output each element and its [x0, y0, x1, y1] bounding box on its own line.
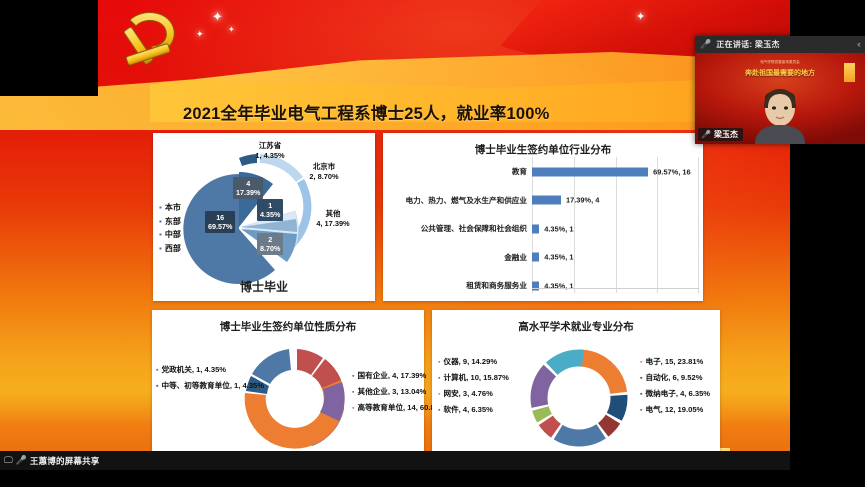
- participant-avatar: [745, 86, 815, 144]
- donut-legend-left: ▪党政机关, 1, 4.35% ▪中等、初等教育单位, 1, 4.35%: [156, 362, 264, 394]
- legend-item: ▪微纳电子, 4, 6.35%: [640, 386, 710, 402]
- sparkle-icon: ✦: [212, 10, 223, 23]
- chart-card-doctor-region: 16 69.57% 4 17.39% 1 4.35% 2 8.70% 江苏省: [153, 133, 375, 301]
- pie-legend: 本市 东部 中部 西部: [159, 201, 181, 255]
- donut-employer-type: [240, 340, 350, 458]
- chart-card-industry: 博士毕业生签约单位行业分布 教育 69.57%, 16 电力、热力、燃气及水生产…: [383, 133, 703, 301]
- bar-category-label: 电力、热力、燃气及水生产和供应业: [383, 195, 532, 206]
- microphone-icon: 🎤: [16, 455, 27, 466]
- tile-slide-title: 奔赴祖国最需要的地方: [745, 68, 815, 78]
- bar-fill: [532, 167, 648, 176]
- pie-data-label: 4 17.39%: [233, 177, 263, 199]
- legend-item: ▪计算机, 10, 15.87%: [438, 370, 509, 386]
- legend-item: 本市: [159, 201, 181, 215]
- screen-share-icon: 🖵: [4, 455, 13, 466]
- legend-swatch-icon: ▪: [352, 405, 354, 412]
- chart-title-academic-major: 高水平学术就业专业分布: [432, 310, 720, 334]
- donut-legend-left: ▪仪器, 9, 14.29% ▪计算机, 10, 15.87% ▪网安, 3, …: [438, 354, 509, 418]
- chevron-collapse-icon[interactable]: ‹‹: [857, 39, 859, 49]
- legend-item: ▪电气, 12, 19.05%: [640, 402, 710, 418]
- participant-name: 梁玉杰: [714, 129, 738, 140]
- legend-swatch-icon: ▪: [640, 359, 642, 366]
- legend-swatch-icon: ▪: [438, 359, 440, 366]
- presentation-slide: ✦ ✦ ✦ ✦ 2021全年毕业电气工程系博士25人，就业率100%: [0, 0, 790, 470]
- bar-category-label: 公共管理、社会保障和社会组织: [383, 223, 532, 234]
- legend-item: 西部: [159, 242, 181, 256]
- active-speaker-label: 正在讲话: 梁玉杰: [716, 39, 780, 50]
- participant-video-tile[interactable]: 🎤 正在讲话: 梁玉杰 ‹‹ 电气学院党委宣传委员会 奔赴祖国最需要的地方 🎤 …: [695, 36, 865, 144]
- bar-row: 金融业 4.35%, 1: [383, 245, 699, 270]
- sparkle-icon: ✦: [228, 26, 235, 34]
- bar-row: 电力、热力、燃气及水生产和供应业 17.39%, 4: [383, 188, 699, 213]
- participant-name-badge: 🎤 梁玉杰: [698, 128, 743, 141]
- legend-item: ▪中等、初等教育单位, 1, 4.35%: [156, 378, 264, 394]
- donut-academic-major: [520, 338, 638, 458]
- legend-item: ▪电子, 15, 23.81%: [640, 354, 710, 370]
- legend-item: 中部: [159, 228, 181, 242]
- legend-item: ▪网安, 3, 4.76%: [438, 386, 509, 402]
- chart-card-academic-major: 高水平学术就业专业分布 ▪仪器, 9, 14.29% ▪计算机, 10, 15.…: [432, 310, 720, 470]
- bar-row: 教育 69.57%, 16: [383, 159, 699, 184]
- pie-secondary-label-beijing: 北京市 2, 8.70%: [293, 162, 355, 182]
- chart-axis: [532, 288, 699, 289]
- legend-swatch-icon: ▪: [352, 389, 354, 396]
- legend-swatch-icon: ▪: [438, 391, 440, 398]
- bar-category-label: 租赁和商务服务业: [383, 280, 532, 291]
- chart-title-industry: 博士毕业生签约单位行业分布: [383, 133, 703, 157]
- microphone-icon: 🎤: [700, 39, 711, 50]
- chart-title-doctor-region: 博士毕业: [153, 278, 375, 295]
- screen-share-view: ✦ ✦ ✦ ✦ 2021全年毕业电气工程系博士25人，就业率100%: [0, 0, 865, 487]
- bar-value-label: 17.39%, 4: [566, 196, 599, 205]
- microphone-muted-icon: 🎤: [701, 130, 711, 139]
- legend-item: ▪软件, 4, 6.35%: [438, 402, 509, 418]
- sparkle-icon: ✦: [196, 30, 204, 39]
- bar-category-label: 教育: [383, 166, 532, 177]
- tile-slide-accent: [844, 63, 855, 82]
- legend-item: 东部: [159, 215, 181, 229]
- pie-data-label: 2 8.70%: [257, 233, 283, 255]
- tile-slide-subtitle: 电气学院党委宣传委员会: [760, 60, 800, 65]
- legend-swatch-icon: ▪: [438, 407, 440, 414]
- slide-left-gutter: [0, 0, 98, 96]
- bar-fill: [532, 224, 539, 233]
- tile-video[interactable]: 电气学院党委宣传委员会 奔赴祖国最需要的地方 🎤 梁玉杰: [695, 53, 865, 144]
- bar-series: 教育 69.57%, 16 电力、热力、燃气及水生产和供应业 17.39%, 4…: [383, 159, 699, 295]
- legend-swatch-icon: ▪: [156, 383, 158, 390]
- bar-row: 公共管理、社会保障和社会组织 4.35%, 1: [383, 216, 699, 241]
- pie-secondary-label-other: 其他 4, 17.39%: [303, 209, 363, 229]
- legend-swatch-icon: ▪: [640, 391, 642, 398]
- tile-header[interactable]: 🎤 正在讲话: 梁玉杰 ‹‹: [695, 36, 865, 53]
- donut-legend-right: ▪电子, 15, 23.81% ▪自动化, 6, 9.52% ▪微纳电子, 4,…: [640, 354, 710, 418]
- bar-value-label: 4.35%, 1: [544, 224, 573, 233]
- legend-swatch-icon: ▪: [156, 367, 158, 374]
- legend-swatch-icon: ▪: [640, 407, 642, 414]
- bar-value-label: 69.57%, 16: [653, 167, 690, 176]
- legend-swatch-icon: ▪: [438, 375, 440, 382]
- legend-item: ▪仪器, 9, 14.29%: [438, 354, 509, 370]
- pie-secondary-label-jiangsu: 江苏省 1, 4.35%: [239, 141, 301, 161]
- bar-fill: [532, 196, 561, 205]
- share-status-text: 王蕙博的屏幕共享: [30, 455, 100, 467]
- legend-swatch-icon: ▪: [640, 375, 642, 382]
- bar-value-label: 4.35%, 1: [544, 253, 573, 262]
- sparkle-icon: ✦: [636, 12, 645, 23]
- legend-item: ▪党政机关, 1, 4.35%: [156, 362, 264, 378]
- legend-swatch-icon: ▪: [352, 373, 354, 380]
- pie-data-label: 1 4.35%: [257, 199, 283, 221]
- bar-row: 租赁和商务服务业 4.35%, 1: [383, 273, 699, 298]
- legend-item: ▪自动化, 6, 9.52%: [640, 370, 710, 386]
- chart-title-employer-type: 博士毕业生签约单位性质分布: [152, 310, 424, 334]
- chart-card-employer-type: 博士毕业生签约单位性质分布 ▪党政机关, 1, 4.35%: [152, 310, 424, 470]
- bar-fill: [532, 253, 539, 262]
- share-status-bar: 🖵 🎤 王蕙博的屏幕共享: [0, 451, 790, 470]
- pie-data-label: 16 69.57%: [205, 211, 235, 233]
- hammer-and-sickle-icon: [112, 6, 192, 78]
- bar-category-label: 金融业: [383, 252, 532, 263]
- page-title: 2021全年毕业电气工程系博士25人，就业率100%: [183, 100, 549, 124]
